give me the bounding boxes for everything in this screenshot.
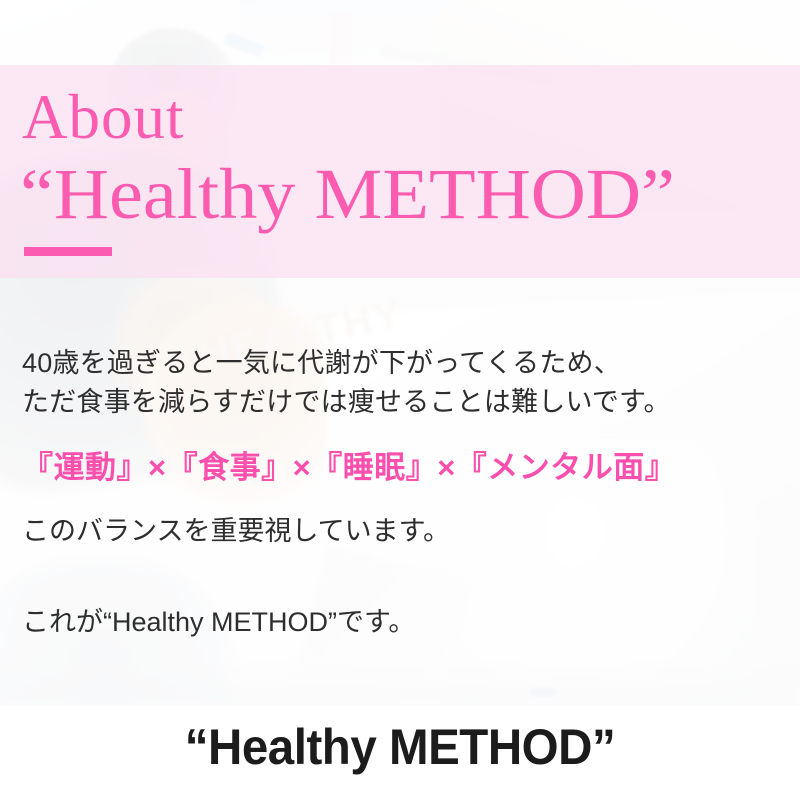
body-paragraph-line-1: 40歳を過ぎると一気に代謝が下がってくるため、 [22, 344, 792, 383]
page-title: “Healthy METHOD” [20, 158, 675, 230]
body-copy: 40歳を過ぎると一気に代謝が下がってくるため、 ただ食事を減らすだけでは痩せるこ… [22, 344, 792, 642]
about-section: HEALTHY About “Healthy METHOD” 40歳を過ぎると一… [0, 0, 800, 800]
footer-heading: “Healthy METHOD” [20, 718, 780, 776]
body-after-highlight: このバランスを重要視しています。 [22, 512, 792, 551]
body-closing: これが“Healthy METHOD”です。 [22, 603, 792, 642]
page-eyebrow: About [22, 86, 185, 149]
title-underline [24, 247, 112, 256]
body-highlight: 『運動』×『食事』×『睡眠』×『メンタル面』 [22, 448, 792, 488]
body-paragraph-line-2: ただ食事を減らすだけでは痩せることは難しいです。 [22, 383, 792, 422]
